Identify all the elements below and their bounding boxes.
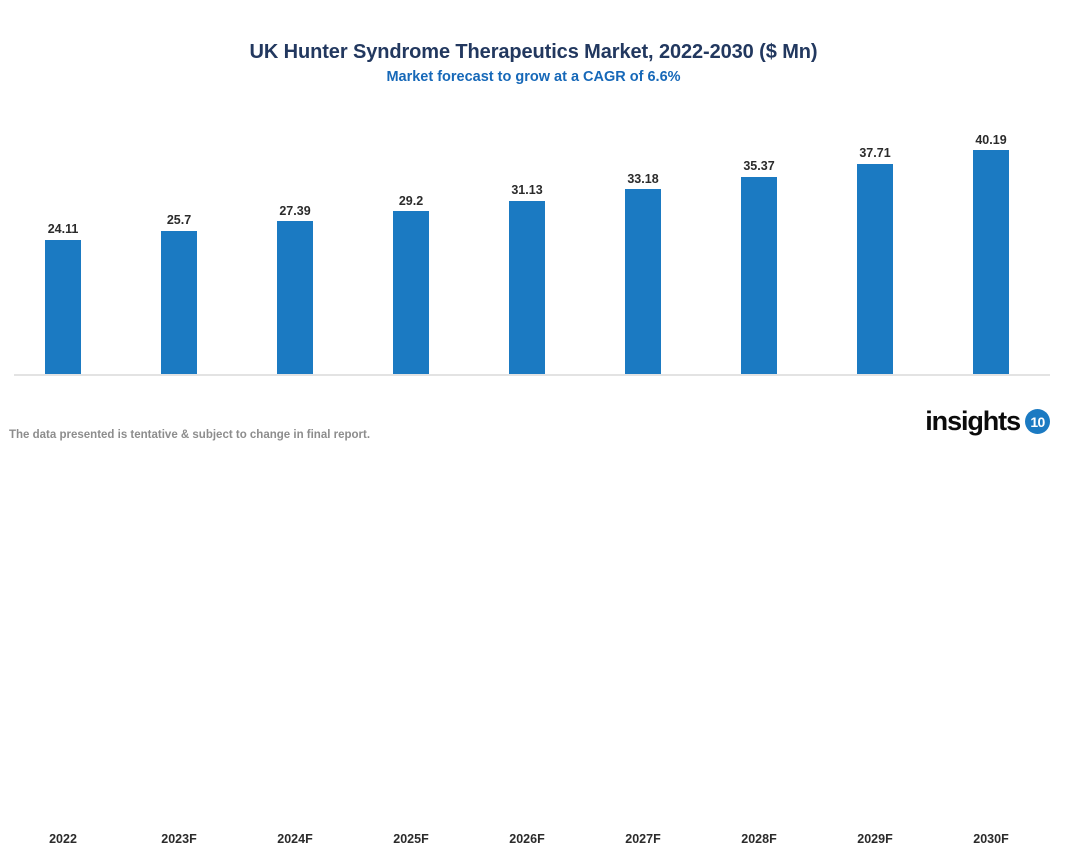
x-axis-tick-label: 2023F bbox=[121, 832, 237, 846]
bar-column: 25.7 bbox=[121, 74, 237, 374]
x-axis-tick-label: 2030F bbox=[933, 832, 1049, 846]
bar-column: 37.71 bbox=[817, 74, 933, 374]
bar-rect[interactable] bbox=[393, 211, 429, 374]
bar-column: 27.39 bbox=[237, 74, 353, 374]
bar-rect[interactable] bbox=[973, 150, 1009, 374]
plot-area: 24.11 2022 25.7 2023F 27.39 2024F 29.2 2… bbox=[0, 0, 1067, 454]
bar-column: 35.37 bbox=[701, 74, 817, 374]
bar-value-label: 29.2 bbox=[399, 195, 423, 208]
bar-value-label: 37.71 bbox=[859, 147, 890, 160]
bar-rect[interactable] bbox=[161, 231, 197, 374]
bar-rect[interactable] bbox=[45, 240, 81, 374]
bar-rect[interactable] bbox=[741, 177, 777, 374]
x-axis-tick-label: 2026F bbox=[469, 832, 585, 846]
x-axis-tick-label: 2028F bbox=[701, 832, 817, 846]
bar-value-label: 31.13 bbox=[511, 184, 542, 197]
bar-value-label: 24.11 bbox=[48, 223, 79, 236]
bar-value-label: 27.39 bbox=[279, 205, 310, 218]
bar-rect[interactable] bbox=[625, 189, 661, 374]
bar-rect[interactable] bbox=[857, 164, 893, 374]
insights10-logo: insights 10 bbox=[925, 408, 1050, 435]
bar-column: 24.11 bbox=[5, 74, 121, 374]
x-axis-tick-label: 2025F bbox=[353, 832, 469, 846]
bar-rect[interactable] bbox=[509, 201, 545, 375]
x-axis-tick-label: 2027F bbox=[585, 832, 701, 846]
x-axis-tick-label: 2024F bbox=[237, 832, 353, 846]
bar-column: 40.19 bbox=[933, 74, 1049, 374]
bar-value-label: 25.7 bbox=[167, 214, 191, 227]
bar-column: 31.13 bbox=[469, 74, 585, 374]
x-axis-tick-label: 2022 bbox=[5, 832, 121, 846]
bar-value-label: 33.18 bbox=[627, 173, 658, 186]
x-axis-tick-label: 2029F bbox=[817, 832, 933, 846]
brand-wordmark: insights bbox=[925, 408, 1020, 435]
disclaimer-note: The data presented is tentative & subjec… bbox=[9, 429, 370, 441]
brand-badge-icon: 10 bbox=[1025, 409, 1050, 434]
bar-value-label: 35.37 bbox=[743, 160, 774, 173]
bar-value-label: 40.19 bbox=[975, 134, 1006, 147]
x-axis-baseline bbox=[14, 374, 1050, 376]
bar-column: 29.2 bbox=[353, 74, 469, 374]
bar-column: 33.18 bbox=[585, 74, 701, 374]
bar-rect[interactable] bbox=[277, 221, 313, 374]
